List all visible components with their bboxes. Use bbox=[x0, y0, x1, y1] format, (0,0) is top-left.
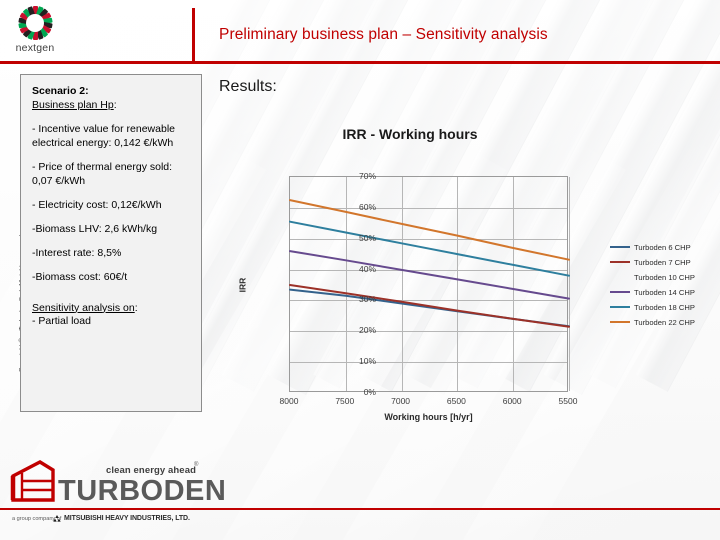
page-title: Preliminary business plan – Sensitivity … bbox=[219, 26, 548, 44]
legend-label: Turboden 22 CHP bbox=[634, 318, 695, 327]
legend-color-swatch bbox=[610, 306, 630, 309]
legend-item: Turboden 6 CHP bbox=[610, 240, 716, 254]
scenario-heading-colon: : bbox=[85, 85, 89, 97]
legend-label: Turboden 7 CHP bbox=[634, 258, 691, 267]
chart-title: IRR - Working hours bbox=[240, 126, 580, 142]
chart-plot-area bbox=[289, 176, 568, 392]
legend-color-swatch bbox=[610, 321, 630, 324]
scenario-bullet: -Interest rate: 8,5% bbox=[32, 247, 192, 261]
chart-x-tick-label: 6000 bbox=[489, 396, 535, 406]
chart-x-tick-label: 5500 bbox=[545, 396, 591, 406]
chart-x-tick-label: 7500 bbox=[322, 396, 368, 406]
scenario-bullet: - Price of thermal energy sold: 0,07 €/k… bbox=[32, 161, 192, 189]
scenario-heading-text: Scenario 2 bbox=[32, 85, 85, 97]
legend-label: Turboden 10 CHP bbox=[634, 273, 695, 282]
scenario-box: Scenario 2: Business plan Hp: - Incentiv… bbox=[20, 74, 202, 412]
legend-item: Turboden 18 CHP bbox=[610, 300, 716, 314]
legend-color-swatch bbox=[610, 291, 630, 294]
nextgen-ring-hole bbox=[26, 14, 44, 32]
chart-x-tick-label: 7000 bbox=[378, 396, 424, 406]
chart-y-tick-label: 50% bbox=[334, 233, 376, 243]
chart-gridline-v bbox=[569, 177, 570, 391]
legend-color-swatch bbox=[610, 276, 630, 279]
chart-legend: Turboden 6 CHPTurboden 7 CHPTurboden 10 … bbox=[610, 240, 716, 330]
chart-y-tick-label: 10% bbox=[334, 356, 376, 366]
chart-y-tick-label: 30% bbox=[334, 294, 376, 304]
turboden-logo: clean energy ahead TURBODEN ® a group co… bbox=[8, 458, 204, 534]
nextgen-logo: nextgen bbox=[6, 3, 64, 59]
sensitivity-heading-colon: : bbox=[135, 302, 138, 314]
legend-item: Turboden 7 CHP bbox=[610, 255, 716, 269]
slide: nextgen Preliminary business plan – Sens… bbox=[0, 0, 720, 540]
mitsubishi-parent-name: MITSUBISHI HEAVY INDUSTRIES, LTD. bbox=[64, 515, 190, 522]
nextgen-logo-text: nextgen bbox=[16, 42, 55, 54]
chart-y-tick-label: 70% bbox=[334, 171, 376, 181]
scenario-subheading-colon: : bbox=[114, 99, 117, 111]
sensitivity-heading: Sensitivity analysis on: bbox=[32, 302, 192, 316]
chart-x-axis-label: Working hours [h/yr] bbox=[289, 412, 568, 422]
chart-x-tick-label: 8000 bbox=[266, 396, 312, 406]
scenario-bullet: - Electricity cost: 0,12€/kWh bbox=[32, 199, 192, 213]
header-divider bbox=[0, 61, 720, 64]
scenario-subheading-text: Business plan Hp bbox=[32, 99, 114, 111]
chart-x-tick-label: 6500 bbox=[433, 396, 479, 406]
registered-trademark-icon: ® bbox=[194, 462, 198, 468]
turboden-wordmark: TURBODEN bbox=[58, 475, 226, 508]
chart-y-tick-label: 20% bbox=[334, 325, 376, 335]
nextgen-ring-icon bbox=[14, 4, 56, 42]
legend-item: Turboden 14 CHP bbox=[610, 285, 716, 299]
legend-item: Turboden 10 CHP bbox=[610, 270, 716, 284]
sensitivity-item: - Partial load bbox=[32, 315, 192, 329]
legend-color-swatch bbox=[610, 261, 630, 264]
scenario-heading: Scenario 2: bbox=[32, 85, 192, 99]
chart-y-axis-label: IRR bbox=[237, 278, 247, 293]
irr-chart: IRR - Working hours IRR 0%10%20%30%40%50… bbox=[240, 120, 710, 420]
legend-label: Turboden 14 CHP bbox=[634, 288, 695, 297]
legend-color-swatch bbox=[610, 246, 630, 249]
chart-y-tick-label: 60% bbox=[334, 202, 376, 212]
turboden-mark-icon bbox=[10, 460, 56, 504]
legend-item: Turboden 22 CHP bbox=[610, 315, 716, 329]
chart-y-tick-label: 40% bbox=[334, 264, 376, 274]
results-label: Results: bbox=[219, 78, 277, 96]
scenario-bullet: -Biomass LHV: 2,6 kWh/kg bbox=[32, 223, 192, 237]
scenario-subheading: Business plan Hp: bbox=[32, 99, 192, 113]
legend-label: Turboden 18 CHP bbox=[634, 303, 695, 312]
scenario-bullet: -Biomass cost: 60€/t bbox=[32, 271, 192, 285]
sensitivity-heading-text: Sensitivity analysis on bbox=[32, 302, 135, 314]
legend-label: Turboden 6 CHP bbox=[634, 243, 691, 252]
title-box: Preliminary business plan – Sensitivity … bbox=[192, 8, 716, 64]
scenario-bullet: - Incentive value for renewable electric… bbox=[32, 123, 192, 151]
mitsubishi-three-diamonds-icon bbox=[52, 515, 62, 524]
chart-series-lines bbox=[290, 177, 569, 393]
